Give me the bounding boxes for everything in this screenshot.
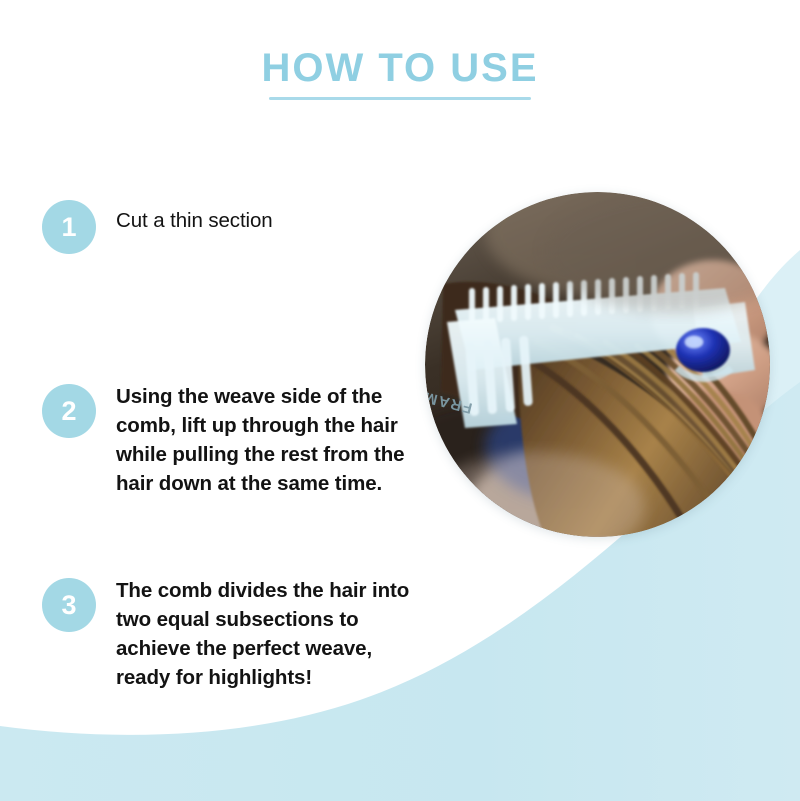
step-item-2: 2 Using the weave side of the comb, lift… (42, 374, 462, 498)
step-number-badge-2: 2 (42, 384, 96, 438)
step-number-badge-3: 3 (42, 578, 96, 632)
page-title-block: HOW TO USE (0, 44, 800, 100)
page-title: HOW TO USE (257, 44, 542, 92)
title-underline (269, 97, 531, 100)
step-number-badge-1: 1 (42, 200, 96, 254)
how-to-use-infographic: HOW TO USE (0, 0, 800, 801)
step-item-1: 1 Cut a thin section (42, 190, 462, 254)
step-text-3: The comb divides the hair into two equal… (116, 568, 411, 692)
step-item-3: 3 The comb divides the hair into two equ… (42, 568, 462, 692)
step-text-2: Using the weave side of the comb, lift u… (116, 374, 411, 498)
step-text-1: Cut a thin section (116, 190, 411, 235)
product-photo: FRAMAR (425, 192, 770, 537)
steps-list: 1 Cut a thin section 2 Using the weave s… (42, 190, 462, 692)
